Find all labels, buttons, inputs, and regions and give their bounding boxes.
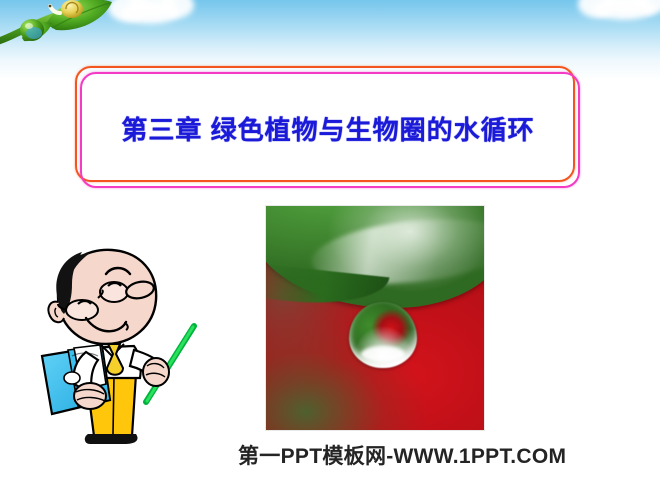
page-title: 第三章 绿色植物与生物圈的水循环: [121, 110, 534, 147]
vine-decoration-icon: [0, 0, 120, 50]
water-droplet: [349, 302, 417, 368]
title-container: 第三章 绿色植物与生物圈的水循环: [80, 72, 576, 184]
cartoon-teacher-illustration: [28, 244, 200, 456]
droplet-highlight: [361, 346, 405, 362]
presentation-slide: 第三章 绿色植物与生物圈的水循环: [0, 0, 660, 495]
leaf-shape: [265, 205, 485, 308]
leaf-droplet-photo: [265, 205, 485, 431]
watermark-text: 第一PPT模板网-WWW.1PPT.COM: [238, 440, 566, 470]
